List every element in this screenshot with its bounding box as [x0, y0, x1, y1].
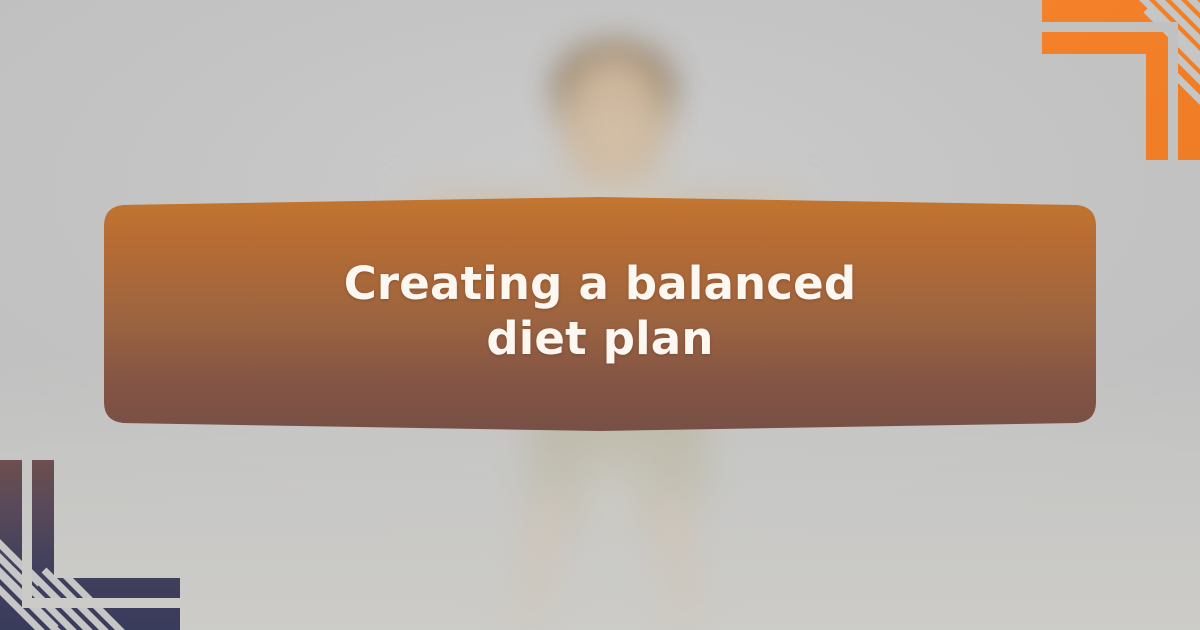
- corner-bracket-top-right-icon: [1020, 0, 1200, 160]
- poster-canvas: Creating a balanced diet plan: [0, 0, 1200, 630]
- title-banner: Creating a balanced diet plan: [100, 190, 1100, 438]
- corner-bracket-bottom-left-icon: [0, 460, 180, 630]
- banner-title: Creating a balanced diet plan: [100, 190, 1100, 438]
- child-head: [560, 52, 668, 184]
